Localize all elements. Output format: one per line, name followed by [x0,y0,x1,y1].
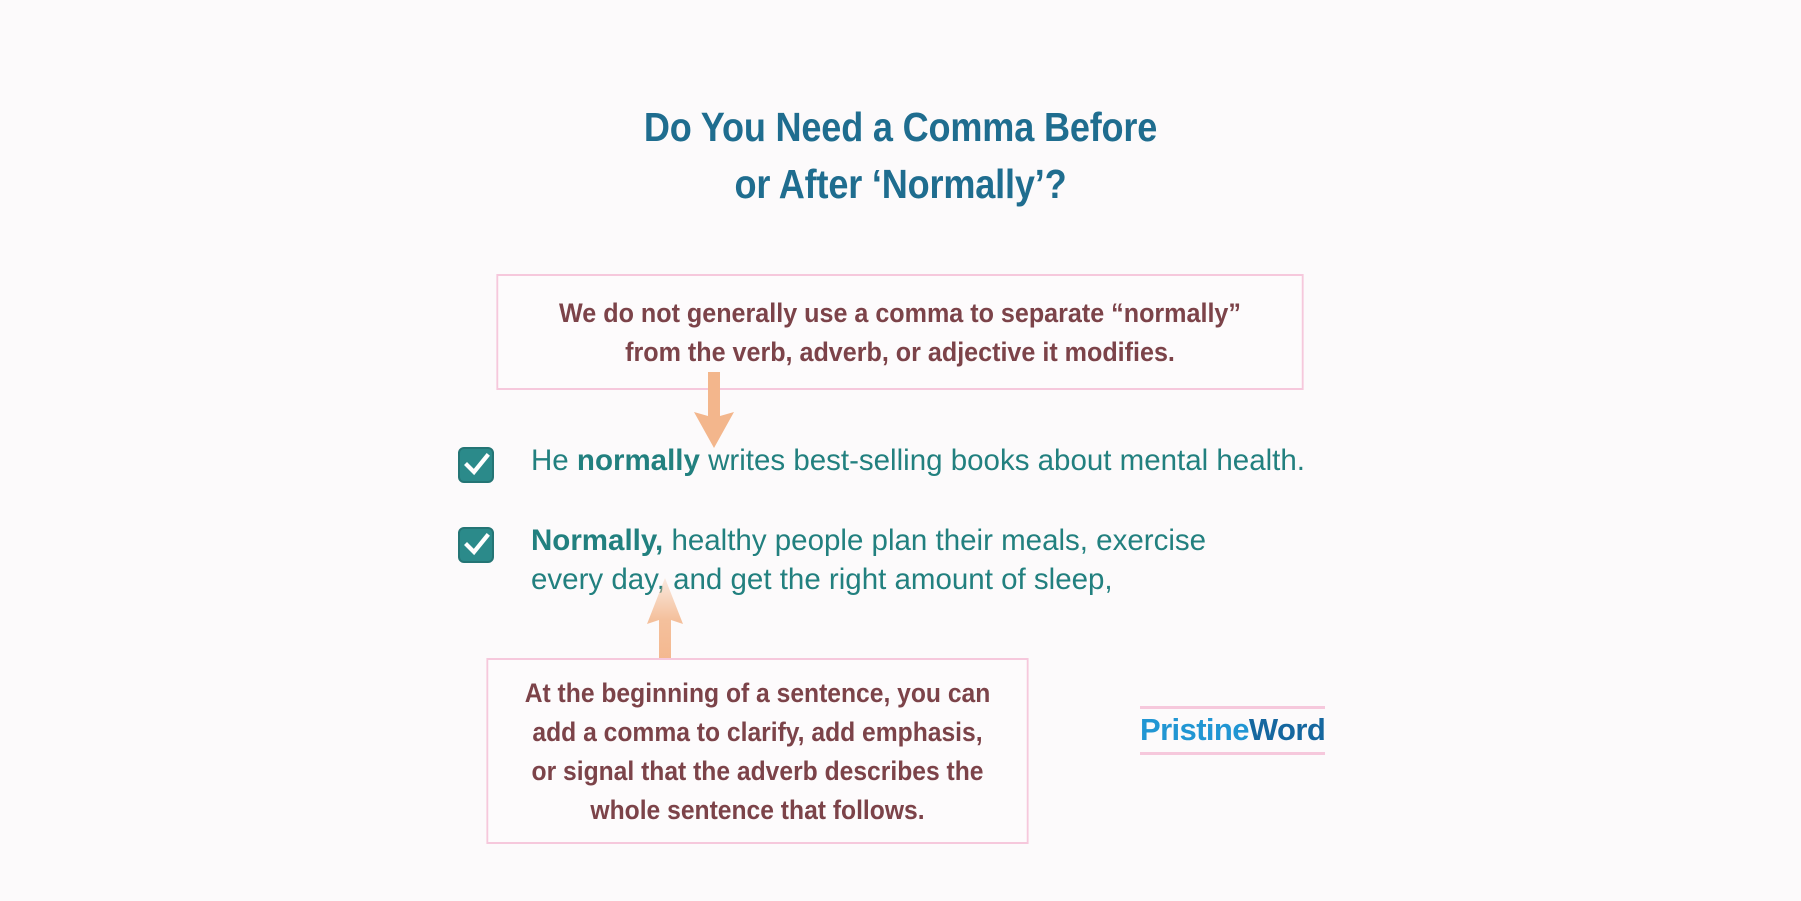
callout-bottom-line-1: At the beginning of a sentence, you can [499,674,1015,713]
example-1-suffix: writes best-selling books about mental h… [700,444,1305,477]
callout-bottom-line-3: or signal that the adverb describes the [499,752,1015,791]
brand-logo-part-1: Pristine [1140,712,1249,747]
brand-logo[interactable]: PristineWord [1140,706,1325,755]
example-2-line-1: Normally, healthy people plan their meal… [531,521,1206,560]
example-1-text: He normally writes best-selling books ab… [531,441,1305,480]
example-1-emphasis: normally [577,444,700,477]
example-1-prefix: He [531,444,577,477]
callout-box-top: We do not generally use a comma to separ… [496,274,1303,390]
callout-box-bottom: At the beginning of a sentence, you can … [486,658,1028,844]
infographic-canvas: Do You Need a Comma Before or After ‘Nor… [0,0,1801,901]
callout-bottom-line-2: add a comma to clarify, add emphasis, [499,713,1015,752]
check-icon [458,527,494,563]
example-2-text: Normally, healthy people plan their meal… [531,521,1206,599]
page-title-line-1: Do You Need a Comma Before [108,99,1693,156]
callout-top-line-1: We do not generally use a comma to separ… [511,294,1288,333]
callout-top-line-2: from the verb, adverb, or adjective it m… [511,333,1288,372]
page-title-line-2: or After ‘Normally’? [108,156,1693,213]
example-2-emphasis: Normally, [531,524,663,557]
example-2-line-2: every day, and get the right amount of s… [531,560,1206,599]
example-item-1: He normally writes best-selling books ab… [458,441,1305,483]
callout-bottom-line-4: whole sentence that follows. [499,791,1015,830]
page-title: Do You Need a Comma Before or After ‘Nor… [108,99,1693,213]
example-2-line-1-rest: healthy people plan their meals, exercis… [663,524,1206,557]
brand-logo-part-2: Word [1249,712,1325,747]
example-item-2: Normally, healthy people plan their meal… [458,521,1206,599]
check-icon [458,447,494,483]
